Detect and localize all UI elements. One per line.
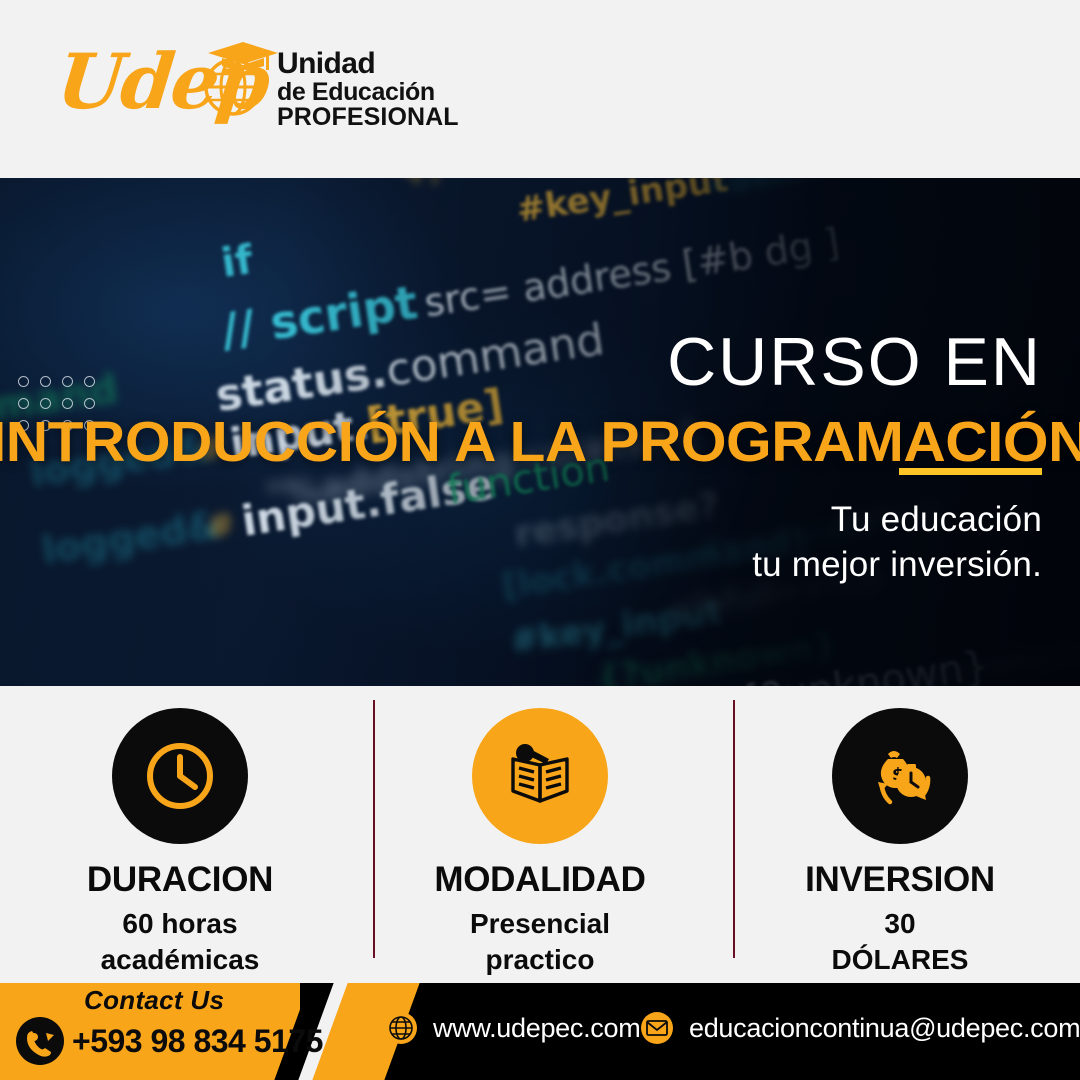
money-time-icon: $	[858, 734, 942, 818]
logo-mark: Udep	[58, 38, 263, 138]
logo-line-2: de Educación	[277, 80, 459, 106]
hero-title: INTRODUCCIÓN A LA PROGRAMACIÓN	[0, 414, 1080, 471]
course-flyer: Udep Unidad de Educación PROFESIONAL	[0, 0, 1080, 1080]
info-card-inversion: $ INVERSION 30 DÓLARES	[720, 686, 1080, 983]
duracion-detail: 60 horas académicas	[101, 906, 260, 978]
contact-us-label: Contact Us	[84, 985, 224, 1016]
logo-line-3: PROFESIONAL	[277, 105, 459, 131]
inversion-line-2: DÓLARES	[832, 942, 969, 978]
modalidad-title: MODALIDAD	[434, 862, 645, 897]
logo-text-block: Unidad de Educación PROFESIONAL	[277, 45, 459, 131]
info-card-duracion: DURACION 60 horas académicas	[0, 686, 360, 983]
modalidad-line-1: Presencial	[470, 906, 610, 942]
duracion-line-1: 60 horas	[101, 906, 260, 942]
modalidad-detail: Presencial practico	[470, 906, 610, 978]
inversion-icon-circle: $	[832, 708, 968, 844]
duracion-line-2: académicas	[101, 942, 260, 978]
info-cards-section: DURACION 60 horas académicas	[0, 686, 1080, 983]
modalidad-icon-circle	[472, 708, 608, 844]
hero-title-row: INTRODUCCIÓN A LA PROGRAMACIÓN	[0, 414, 1080, 471]
website-url[interactable]: www.udepec.com	[433, 1013, 640, 1044]
whatsapp-phone-icon[interactable]	[12, 1013, 68, 1069]
hero-banner: if +/ #key_input <dem= #= [lock.command …	[0, 178, 1080, 686]
envelope-icon	[638, 1009, 676, 1047]
modalidad-line-2: practico	[470, 942, 610, 978]
header-bar: Udep Unidad de Educación PROFESIONAL	[0, 0, 1080, 178]
duracion-title: DURACION	[87, 862, 273, 897]
website-row[interactable]: www.udepec.com	[382, 1009, 640, 1047]
phone-row[interactable]: +593 98 834 5175	[12, 1013, 323, 1069]
phone-number[interactable]: +593 98 834 5175	[72, 1023, 323, 1060]
inversion-line-1: 30	[832, 906, 969, 942]
tagline-line-1: Tu educación	[752, 498, 1042, 543]
email-row[interactable]: educacioncontinua@udepec.com	[638, 1009, 1080, 1047]
duracion-icon-circle	[112, 708, 248, 844]
globe-icon	[202, 56, 264, 118]
info-card-modalidad: MODALIDAD Presencial practico	[360, 686, 720, 983]
globe-icon	[382, 1009, 420, 1047]
clock-icon	[141, 737, 219, 815]
hero-eyebrow: CURSO EN	[667, 328, 1042, 396]
udep-logo: Udep Unidad de Educación PROFESIONAL	[58, 38, 459, 138]
footer-contact-bar: Contact Us +593 98 834 5175	[0, 983, 1080, 1080]
title-underline	[899, 468, 1042, 475]
tagline-line-2: tu mejor inversión.	[752, 543, 1042, 588]
hero-tagline: Tu educación tu mejor inversión.	[752, 498, 1042, 588]
inversion-detail: 30 DÓLARES	[832, 906, 969, 978]
book-pen-icon	[499, 735, 581, 817]
hero-eyebrow-wrap: CURSO EN	[667, 328, 1042, 396]
inversion-title: INVERSION	[805, 862, 995, 897]
logo-line-1: Unidad	[277, 49, 459, 80]
email-address[interactable]: educacioncontinua@udepec.com	[689, 1013, 1080, 1044]
